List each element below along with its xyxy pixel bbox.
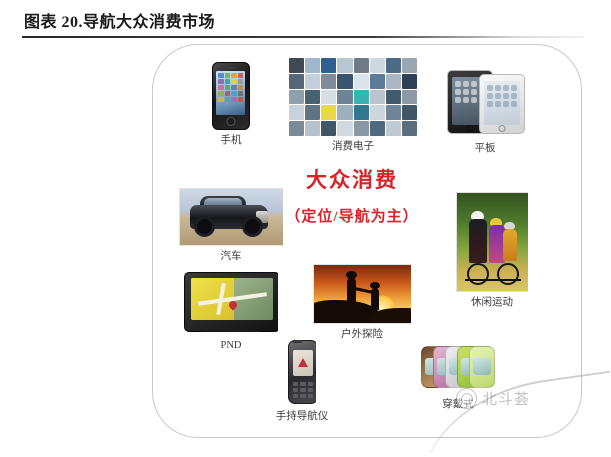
smart-watches-photo [421, 342, 495, 392]
diagram-item-label: 消费电子 [288, 138, 418, 153]
circle-logo-icon [456, 388, 477, 409]
diagram-item-label: 户外探险 [312, 326, 412, 341]
hikers-sunset-photo [313, 264, 411, 324]
diagram-item-handheld: 手持导航仪 [272, 340, 332, 423]
page-title: 图表 20.导航大众消费市场 [24, 8, 215, 32]
diagram-item-label: 平板 [444, 140, 526, 155]
center-label-group: 大众消费 （定位/导航为主） [262, 164, 442, 226]
cyclists-photo [456, 192, 528, 292]
diagram-item-label: 手持导航仪 [272, 408, 332, 423]
tablet-photo [445, 66, 525, 138]
consumer-electronics-collage [289, 58, 417, 136]
center-primary-text: 大众消费 [262, 164, 442, 194]
diagram-item-tablet: 平板 [444, 66, 526, 155]
watermark-text: 北斗荟 [482, 388, 530, 409]
watermark: 北斗荟 [456, 388, 530, 409]
figure-page: 图表 20.导航大众消费市场 手机 [0, 0, 611, 457]
pnd-device-photo [184, 272, 278, 332]
diagram-item-sports: 休闲运动 [455, 192, 529, 309]
center-secondary-text: （定位/导航为主） [262, 205, 442, 226]
diagram-item-outdoor: 户外探险 [312, 264, 412, 341]
diagram-item-phone: 手机 [196, 62, 266, 147]
diagram-item-label: 汽车 [178, 248, 284, 263]
diagram-item-label: 手机 [196, 132, 266, 147]
handheld-navigator-photo [288, 340, 316, 404]
figure-header: 图表 20.导航大众消费市场 [0, 0, 611, 42]
smartphone-photo [212, 62, 250, 130]
diagram-item-electronics: 消费电子 [288, 58, 418, 153]
diagram-item-label: PND [183, 340, 279, 351]
title-divider [22, 36, 584, 38]
diagram-item-pnd: PND [183, 272, 279, 351]
diagram-item-label: 休闲运动 [455, 294, 529, 309]
